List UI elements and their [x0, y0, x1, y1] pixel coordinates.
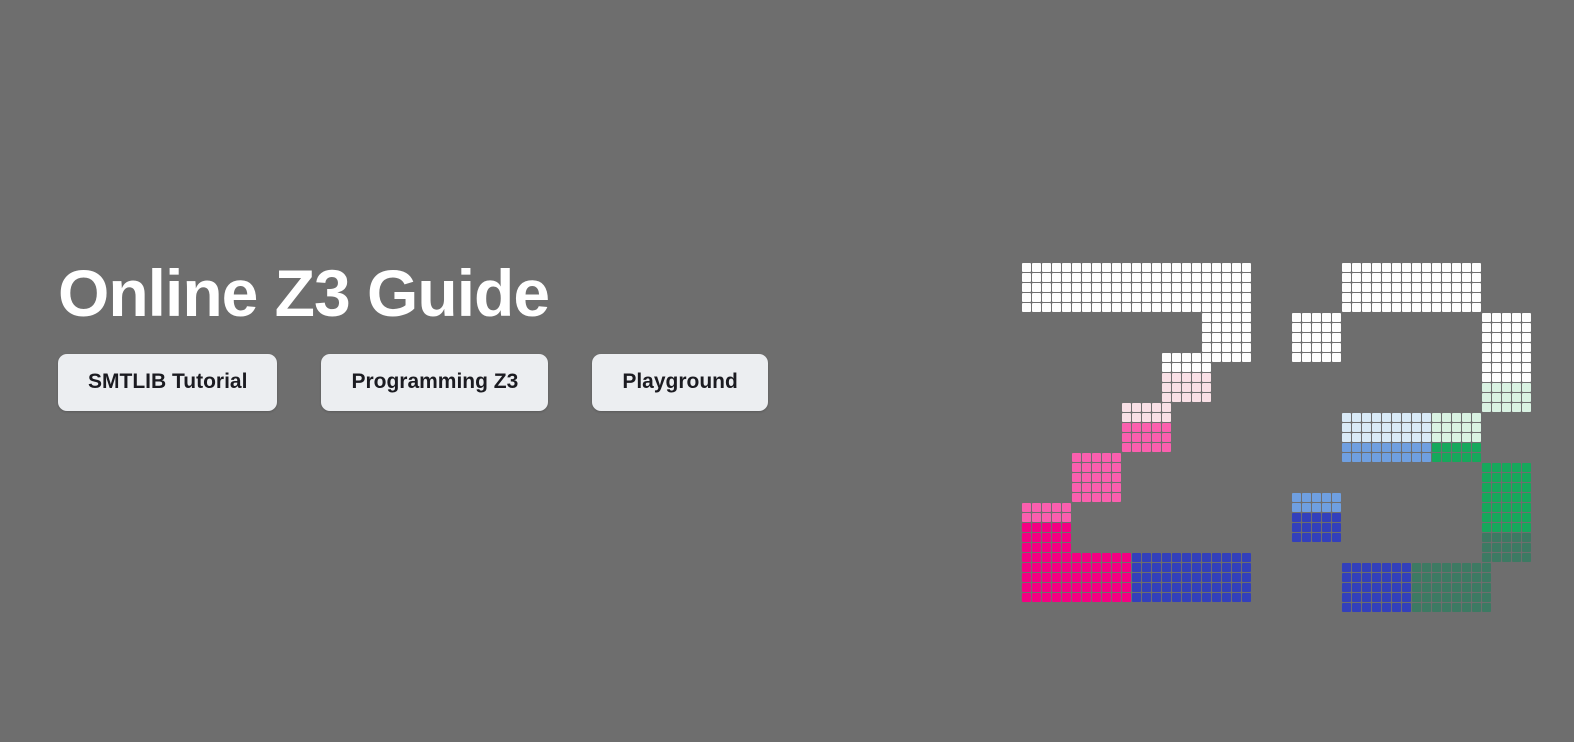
logo-pixel [1362, 283, 1371, 292]
logo-pixel [1472, 413, 1481, 422]
logo-pixel [1072, 303, 1081, 312]
logo-pixel [1112, 453, 1121, 462]
logo-pixel [1022, 573, 1031, 582]
logo-pixel [1202, 263, 1211, 272]
logo-pixel [1182, 263, 1191, 272]
logo-pixel [1292, 523, 1301, 532]
logo-pixel [1482, 603, 1491, 612]
logo-pixel [1522, 323, 1531, 332]
logo-pixel [1462, 573, 1471, 582]
logo-pixel [1142, 553, 1151, 562]
logo-pixel [1202, 373, 1211, 382]
logo-pixel [1042, 573, 1051, 582]
logo-pixel [1412, 273, 1421, 282]
logo-pixel [1092, 573, 1101, 582]
logo-pixel [1062, 533, 1071, 542]
smtlib-tutorial-button[interactable]: SMTLIB Tutorial [58, 354, 277, 411]
logo-pixel [1372, 573, 1381, 582]
logo-pixel [1072, 293, 1081, 302]
logo-pixel [1432, 303, 1441, 312]
logo-pixel [1462, 283, 1471, 292]
logo-pixel [1452, 573, 1461, 582]
logo-pixel [1222, 293, 1231, 302]
logo-pixel [1172, 383, 1181, 392]
logo-pixel [1172, 553, 1181, 562]
logo-pixel [1172, 293, 1181, 302]
logo-pixel [1452, 283, 1461, 292]
logo-pixel [1172, 263, 1181, 272]
logo-pixel [1332, 503, 1341, 512]
logo-pixel [1122, 403, 1131, 412]
logo-pixel [1162, 393, 1171, 402]
logo-pixel [1512, 403, 1521, 412]
logo-pixel [1142, 403, 1151, 412]
logo-pixel [1022, 263, 1031, 272]
logo-pixel [1342, 283, 1351, 292]
logo-pixel [1502, 533, 1511, 542]
logo-pixel [1362, 443, 1371, 452]
logo-pixel [1082, 553, 1091, 562]
logo-pixel [1382, 593, 1391, 602]
logo-pixel [1502, 353, 1511, 362]
logo-pixel [1462, 413, 1471, 422]
logo-pixel [1182, 583, 1191, 592]
logo-pixel [1162, 373, 1171, 382]
logo-pixel [1202, 383, 1211, 392]
logo-pixel [1052, 293, 1061, 302]
logo-pixel [1192, 263, 1201, 272]
logo-pixel [1452, 563, 1461, 572]
logo-pixel [1352, 433, 1361, 442]
logo-pixel [1462, 293, 1471, 302]
logo-pixel [1512, 533, 1521, 542]
logo-pixel [1112, 473, 1121, 482]
logo-pixel [1352, 263, 1361, 272]
logo-pixel [1122, 303, 1131, 312]
logo-pixel [1502, 383, 1511, 392]
logo-pixel [1212, 283, 1221, 292]
logo-pixel [1522, 463, 1531, 472]
logo-pixel [1522, 533, 1531, 542]
logo-pixel [1162, 583, 1171, 592]
logo-pixel [1352, 443, 1361, 452]
logo-pixel [1092, 473, 1101, 482]
logo-pixel [1142, 273, 1151, 282]
logo-pixel [1112, 303, 1121, 312]
logo-pixel [1292, 493, 1301, 502]
logo-pixel [1312, 503, 1321, 512]
logo-pixel [1402, 593, 1411, 602]
logo-pixel [1052, 573, 1061, 582]
logo-pixel [1172, 393, 1181, 402]
logo-pixel [1312, 313, 1321, 322]
logo-pixel [1132, 423, 1141, 432]
logo-pixel [1102, 483, 1111, 492]
logo-pixel [1452, 413, 1461, 422]
logo-pixel [1162, 553, 1171, 562]
logo-pixel [1162, 273, 1171, 282]
logo-pixel [1242, 263, 1251, 272]
logo-pixel [1442, 283, 1451, 292]
logo-pixel [1192, 553, 1201, 562]
logo-pixel [1502, 363, 1511, 372]
logo-pixel [1192, 273, 1201, 282]
logo-pixel [1052, 593, 1061, 602]
logo-pixel [1242, 293, 1251, 302]
logo-pixel [1192, 303, 1201, 312]
logo-pixel [1372, 303, 1381, 312]
logo-pixel [1082, 473, 1091, 482]
hero-text-block: Online Z3 Guide SMTLIB Tutorial Programm… [58, 258, 958, 411]
logo-pixel [1382, 433, 1391, 442]
logo-pixel [1422, 593, 1431, 602]
logo-pixel [1512, 493, 1521, 502]
logo-pixel [1152, 303, 1161, 312]
logo-pixel [1392, 433, 1401, 442]
logo-pixel [1492, 463, 1501, 472]
logo-pixel [1432, 413, 1441, 422]
logo-pixel [1362, 433, 1371, 442]
logo-pixel [1242, 583, 1251, 592]
logo-pixel [1192, 573, 1201, 582]
logo-pixel [1302, 343, 1311, 352]
logo-pixel [1312, 533, 1321, 542]
logo-pixel [1422, 603, 1431, 612]
logo-pixel [1062, 513, 1071, 522]
logo-pixel [1382, 423, 1391, 432]
logo-pixel [1392, 423, 1401, 432]
logo-pixel [1372, 433, 1381, 442]
logo-pixel [1472, 273, 1481, 282]
page-title: Online Z3 Guide [58, 258, 958, 329]
logo-pixel [1402, 413, 1411, 422]
logo-pixel [1502, 523, 1511, 532]
logo-pixel [1092, 483, 1101, 492]
logo-pixel [1202, 363, 1211, 372]
logo-pixel [1482, 543, 1491, 552]
logo-pixel [1022, 593, 1031, 602]
logo-pixel [1412, 603, 1421, 612]
logo-pixel [1472, 283, 1481, 292]
logo-pixel [1102, 563, 1111, 572]
logo-pixel [1392, 263, 1401, 272]
logo-pixel [1232, 273, 1241, 282]
logo-pixel [1452, 583, 1461, 592]
logo-pixel [1222, 303, 1231, 312]
logo-pixel [1202, 273, 1211, 282]
logo-pixel [1152, 403, 1161, 412]
logo-pixel [1492, 363, 1501, 372]
logo-pixel [1152, 423, 1161, 432]
logo-pixel [1342, 583, 1351, 592]
logo-pixel [1412, 453, 1421, 462]
logo-pixel [1102, 303, 1111, 312]
logo-pixel [1192, 383, 1201, 392]
logo-pixel [1152, 443, 1161, 452]
logo-pixel [1522, 333, 1531, 342]
logo-pixel [1482, 333, 1491, 342]
logo-pixel [1132, 273, 1141, 282]
logo-pixel [1492, 553, 1501, 562]
logo-pixel [1412, 563, 1421, 572]
logo-pixel [1212, 293, 1221, 302]
logo-pixel [1182, 273, 1191, 282]
logo-pixel [1162, 423, 1171, 432]
logo-pixel [1402, 423, 1411, 432]
logo-pixel [1112, 263, 1121, 272]
logo-pixel [1492, 473, 1501, 482]
logo-pixel [1242, 273, 1251, 282]
logo-pixel [1292, 343, 1301, 352]
logo-pixel [1032, 593, 1041, 602]
logo-pixel [1482, 353, 1491, 362]
logo-pixel [1162, 383, 1171, 392]
logo-pixel [1212, 563, 1221, 572]
logo-pixel [1242, 553, 1251, 562]
logo-pixel [1172, 583, 1181, 592]
logo-pixel [1522, 473, 1531, 482]
logo-pixel [1222, 343, 1231, 352]
logo-pixel [1342, 293, 1351, 302]
logo-pixel [1082, 483, 1091, 492]
logo-pixel [1352, 593, 1361, 602]
logo-pixel [1462, 433, 1471, 442]
logo-pixel [1492, 403, 1501, 412]
logo-pixel [1062, 523, 1071, 532]
logo-pixel [1382, 263, 1391, 272]
logo-pixel [1422, 573, 1431, 582]
logo-pixel [1392, 593, 1401, 602]
logo-pixel [1482, 513, 1491, 522]
logo-pixel [1452, 603, 1461, 612]
playground-button[interactable]: Playground [592, 354, 768, 411]
logo-pixel [1432, 283, 1441, 292]
logo-pixel [1232, 353, 1241, 362]
logo-pixel [1462, 443, 1471, 452]
logo-pixel [1432, 433, 1441, 442]
logo-pixel [1382, 293, 1391, 302]
logo-pixel [1392, 273, 1401, 282]
logo-pixel [1232, 573, 1241, 582]
logo-pixel [1022, 583, 1031, 592]
logo-pixel [1022, 563, 1031, 572]
logo-pixel [1052, 583, 1061, 592]
logo-pixel [1062, 263, 1071, 272]
logo-pixel [1202, 393, 1211, 402]
logo-pixel [1062, 593, 1071, 602]
logo-pixel [1122, 283, 1131, 292]
logo-pixel [1162, 573, 1171, 582]
logo-pixel [1432, 443, 1441, 452]
logo-pixel [1122, 443, 1131, 452]
logo-pixel [1102, 263, 1111, 272]
logo-pixel [1192, 293, 1201, 302]
logo-pixel [1502, 473, 1511, 482]
logo-pixel [1512, 333, 1521, 342]
logo-pixel [1392, 583, 1401, 592]
logo-pixel [1302, 313, 1311, 322]
logo-pixel [1322, 533, 1331, 542]
logo-pixel [1112, 563, 1121, 572]
logo-pixel [1422, 293, 1431, 302]
logo-pixel [1082, 573, 1091, 582]
logo-pixel [1382, 273, 1391, 282]
logo-pixel [1202, 323, 1211, 332]
logo-pixel [1022, 513, 1031, 522]
logo-pixel [1322, 313, 1331, 322]
logo-pixel [1402, 563, 1411, 572]
logo-pixel [1332, 343, 1341, 352]
logo-pixel [1242, 593, 1251, 602]
logo-pixel [1142, 563, 1151, 572]
logo-pixel [1022, 543, 1031, 552]
logo-pixel [1512, 483, 1521, 492]
logo-pixel [1162, 403, 1171, 412]
logo-pixel [1332, 313, 1341, 322]
logo-pixel [1442, 443, 1451, 452]
logo-pixel [1482, 553, 1491, 562]
logo-pixel [1442, 453, 1451, 462]
logo-pixel [1332, 513, 1341, 522]
logo-pixel [1192, 593, 1201, 602]
logo-pixel [1322, 523, 1331, 532]
logo-pixel [1412, 263, 1421, 272]
logo-pixel [1322, 343, 1331, 352]
logo-pixel [1162, 433, 1171, 442]
logo-pixel [1492, 523, 1501, 532]
logo-pixel [1142, 583, 1151, 592]
logo-pixel [1312, 353, 1321, 362]
logo-pixel [1102, 493, 1111, 502]
logo-pixel [1202, 293, 1211, 302]
logo-pixel [1202, 593, 1211, 602]
logo-pixel [1072, 483, 1081, 492]
logo-pixel [1212, 263, 1221, 272]
logo-pixel [1062, 583, 1071, 592]
logo-pixel [1112, 583, 1121, 592]
logo-pixel [1152, 573, 1161, 582]
logo-pixel [1222, 353, 1231, 362]
logo-pixel [1212, 553, 1221, 562]
logo-pixel [1132, 293, 1141, 302]
logo-pixel [1232, 323, 1241, 332]
logo-pixel [1392, 443, 1401, 452]
logo-pixel [1132, 403, 1141, 412]
logo-pixel [1442, 423, 1451, 432]
logo-pixel [1512, 373, 1521, 382]
logo-pixel [1462, 273, 1471, 282]
logo-pixel [1102, 593, 1111, 602]
programming-z3-button[interactable]: Programming Z3 [321, 354, 548, 411]
logo-pixel [1452, 433, 1461, 442]
logo-pixel [1492, 343, 1501, 352]
logo-pixel [1142, 443, 1151, 452]
logo-pixel [1402, 443, 1411, 452]
logo-pixel [1462, 303, 1471, 312]
logo-pixel [1502, 323, 1511, 332]
logo-pixel [1392, 303, 1401, 312]
logo-pixel [1522, 373, 1531, 382]
logo-pixel [1212, 573, 1221, 582]
logo-pixel [1502, 553, 1511, 562]
logo-pixel [1202, 563, 1211, 572]
logo-pixel [1202, 303, 1211, 312]
logo-pixel [1332, 333, 1341, 342]
logo-pixel [1242, 353, 1251, 362]
logo-pixel [1352, 563, 1361, 572]
logo-pixel [1352, 453, 1361, 462]
logo-pixel [1122, 573, 1131, 582]
logo-pixel [1082, 453, 1091, 462]
logo-pixel [1492, 373, 1501, 382]
logo-pixel [1342, 443, 1351, 452]
logo-pixel [1442, 303, 1451, 312]
logo-pixel [1292, 333, 1301, 342]
logo-pixel [1242, 323, 1251, 332]
logo-pixel [1472, 423, 1481, 432]
logo-pixel [1132, 593, 1141, 602]
logo-pixel [1202, 553, 1211, 562]
logo-pixel [1482, 463, 1491, 472]
logo-pixel [1142, 413, 1151, 422]
logo-pixel [1162, 283, 1171, 292]
logo-pixel [1522, 403, 1531, 412]
logo-pixel [1482, 503, 1491, 512]
logo-pixel [1472, 593, 1481, 602]
logo-pixel [1092, 593, 1101, 602]
logo-pixel [1202, 583, 1211, 592]
logo-pixel [1042, 283, 1051, 292]
logo-pixel [1232, 343, 1241, 352]
logo-pixel [1512, 393, 1521, 402]
logo-pixel [1242, 563, 1251, 572]
logo-pixel [1372, 263, 1381, 272]
logo-pixel [1162, 263, 1171, 272]
logo-pixel [1362, 603, 1371, 612]
logo-pixel [1032, 263, 1041, 272]
logo-pixel [1462, 583, 1471, 592]
logo-pixel [1052, 523, 1061, 532]
logo-pixel [1412, 593, 1421, 602]
logo-pixel [1462, 263, 1471, 272]
logo-pixel [1022, 503, 1031, 512]
logo-pixel [1512, 513, 1521, 522]
logo-pixel [1402, 573, 1411, 582]
logo-pixel [1102, 453, 1111, 462]
logo-pixel [1402, 293, 1411, 302]
logo-pixel [1072, 453, 1081, 462]
logo-pixel [1492, 313, 1501, 322]
logo-pixel [1182, 303, 1191, 312]
logo-pixel [1382, 563, 1391, 572]
logo-pixel [1442, 413, 1451, 422]
logo-pixel [1292, 503, 1301, 512]
logo-pixel [1212, 353, 1221, 362]
logo-pixel [1302, 493, 1311, 502]
logo-pixel [1062, 283, 1071, 292]
logo-pixel [1362, 593, 1371, 602]
logo-pixel [1442, 273, 1451, 282]
logo-pixel [1152, 283, 1161, 292]
logo-pixel [1522, 553, 1531, 562]
logo-pixel [1312, 333, 1321, 342]
logo-pixel [1312, 323, 1321, 332]
cta-button-row: SMTLIB Tutorial Programming Z3 Playgroun… [58, 354, 958, 411]
logo-pixel [1122, 293, 1131, 302]
logo-pixel [1032, 283, 1041, 292]
logo-pixel [1432, 583, 1441, 592]
logo-pixel [1342, 573, 1351, 582]
